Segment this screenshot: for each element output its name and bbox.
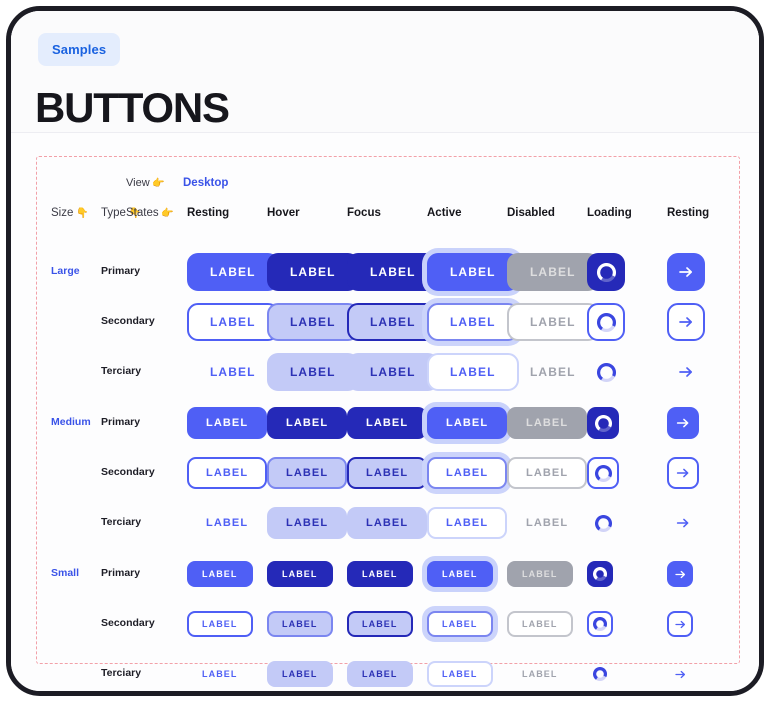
button-label: LABEL xyxy=(210,265,256,279)
cell-secondary-loading-5 xyxy=(587,601,613,647)
button-medium-primary-resting[interactable]: LABEL xyxy=(187,407,267,439)
spinner-icon xyxy=(593,567,607,581)
specimen-frame: View 👉 Desktop Size 👇Type 👇States 👉Resti… xyxy=(36,156,740,664)
button-small-primary-disabled: LABEL xyxy=(507,561,573,587)
specimen-row-large-secondary: SecondaryLABELLABELLABELLABELLABEL xyxy=(37,299,739,345)
app-window: Samples BUTTONS View 👉 Desktop Size 👇Typ… xyxy=(6,6,764,696)
button-large-secondary-disabled: LABEL xyxy=(507,303,599,341)
cell-secondary-focus-2: LABEL xyxy=(347,450,427,496)
button-medium-primary-hover[interactable]: LABEL xyxy=(267,407,347,439)
button-medium-secondary-resting[interactable]: LABEL xyxy=(187,457,267,489)
cell-secondary-resting-6 xyxy=(667,601,693,647)
button-small-terciary-disabled: LABEL xyxy=(507,661,573,687)
cell-terciary-resting-6 xyxy=(667,651,693,696)
arrow-right-icon xyxy=(673,567,688,582)
button-label: LABEL xyxy=(210,365,256,379)
window-inner: Samples BUTTONS View 👉 Desktop Size 👇Typ… xyxy=(11,11,759,691)
specimen-row-small-secondary: SecondaryLABELLABELLABELLABELLABEL xyxy=(37,601,739,647)
cell-secondary-active-3: LABEL xyxy=(427,299,519,345)
button-label: LABEL xyxy=(530,365,576,379)
spinner-icon xyxy=(597,363,616,382)
cell-terciary-loading-5 xyxy=(587,349,625,395)
button-label: LABEL xyxy=(530,265,576,279)
button-label: LABEL xyxy=(446,467,488,479)
row-type-label-secondary: Secondary xyxy=(101,617,155,629)
button-large-secondary-hover[interactable]: LABEL xyxy=(267,303,359,341)
cell-secondary-resting-6 xyxy=(667,299,705,345)
button-label: LABEL xyxy=(282,669,318,679)
view-value[interactable]: Desktop xyxy=(183,177,228,189)
arrow-right-icon xyxy=(674,514,692,532)
page-title: BUTTONS xyxy=(35,84,229,132)
button-small-terciary-focus[interactable]: LABEL xyxy=(347,661,413,687)
cell-terciary-loading-5 xyxy=(587,500,619,546)
cell-secondary-hover-1: LABEL xyxy=(267,601,333,647)
cell-primary-resting-0: LABEL xyxy=(187,551,253,597)
specimen-row-medium-primary: MediumPrimaryLABELLABELLABELLABELLABEL xyxy=(37,400,739,446)
button-label: LABEL xyxy=(206,467,248,479)
cell-terciary-hover-1: LABEL xyxy=(267,651,333,696)
cell-terciary-focus-2: LABEL xyxy=(347,500,427,546)
arrow-right-icon xyxy=(676,262,696,282)
button-large-terciary-loading[interactable] xyxy=(587,353,625,391)
column-header-disabled-4: Disabled xyxy=(507,207,555,219)
button-small-secondary-resting[interactable]: LABEL xyxy=(187,611,253,637)
cell-secondary-resting-0: LABEL xyxy=(187,601,253,647)
spinner-icon xyxy=(593,667,607,681)
button-small-secondary-resting-icon[interactable] xyxy=(667,611,693,637)
button-medium-terciary-active[interactable]: LABEL xyxy=(427,507,507,539)
cell-primary-focus-2: LABEL xyxy=(347,551,413,597)
button-medium-terciary-loading[interactable] xyxy=(587,507,619,539)
arrow-right-icon xyxy=(676,312,696,332)
cell-terciary-focus-2: LABEL xyxy=(347,651,413,696)
view-label-text: View xyxy=(126,177,150,189)
samples-chip[interactable]: Samples xyxy=(38,33,120,66)
row-type-label-primary: Primary xyxy=(101,567,140,579)
cell-terciary-hover-1: LABEL xyxy=(267,349,359,395)
button-medium-secondary-loading[interactable] xyxy=(587,457,619,489)
button-label: LABEL xyxy=(210,315,256,329)
page-header: Samples BUTTONS xyxy=(11,11,759,133)
cell-terciary-resting-6 xyxy=(667,349,705,395)
cell-secondary-disabled-4: LABEL xyxy=(507,299,599,345)
cell-terciary-loading-5 xyxy=(587,651,613,696)
column-header-row: Size 👇Type 👇States 👉RestingHoverFocusAct… xyxy=(37,207,739,227)
button-label: LABEL xyxy=(202,669,238,679)
cell-secondary-focus-2: LABEL xyxy=(347,601,413,647)
cell-primary-resting-6 xyxy=(667,551,693,597)
button-label: LABEL xyxy=(450,265,496,279)
cell-primary-active-3: LABEL xyxy=(427,551,493,597)
button-label: LABEL xyxy=(450,365,496,379)
cell-primary-focus-2: LABEL xyxy=(347,400,427,446)
button-label: LABEL xyxy=(442,619,478,629)
row-type-label-secondary: Secondary xyxy=(101,466,155,478)
button-label: LABEL xyxy=(366,517,408,529)
button-label: LABEL xyxy=(290,265,336,279)
button-label: LABEL xyxy=(206,517,248,529)
cell-terciary-hover-1: LABEL xyxy=(267,500,347,546)
cell-primary-hover-1: LABEL xyxy=(267,249,359,295)
cell-secondary-disabled-4: LABEL xyxy=(507,450,587,496)
column-header-resting-6: Resting xyxy=(667,207,709,219)
cell-terciary-resting-0: LABEL xyxy=(187,500,267,546)
cell-primary-resting-0: LABEL xyxy=(187,400,267,446)
button-medium-terciary-focus[interactable]: LABEL xyxy=(347,507,427,539)
button-label: LABEL xyxy=(286,517,328,529)
button-label: LABEL xyxy=(522,669,558,679)
spinner-icon xyxy=(595,415,612,432)
button-medium-primary-disabled: LABEL xyxy=(507,407,587,439)
button-medium-secondary-active[interactable]: LABEL xyxy=(427,457,507,489)
cell-primary-resting-6 xyxy=(667,249,705,295)
cell-secondary-loading-5 xyxy=(587,450,619,496)
button-large-secondary-loading[interactable] xyxy=(587,303,625,341)
button-label: LABEL xyxy=(522,569,558,579)
button-medium-primary-active[interactable]: LABEL xyxy=(427,407,507,439)
spinner-icon xyxy=(595,465,612,482)
cell-primary-disabled-4: LABEL xyxy=(507,551,573,597)
view-row: View 👉 Desktop xyxy=(37,177,739,197)
button-label: LABEL xyxy=(526,417,568,429)
button-large-primary-active[interactable]: LABEL xyxy=(427,253,519,291)
button-small-secondary-hover[interactable]: LABEL xyxy=(267,611,333,637)
cell-terciary-resting-0: LABEL xyxy=(187,349,279,395)
button-label: LABEL xyxy=(526,467,568,479)
cell-primary-resting-0: LABEL xyxy=(187,249,279,295)
axis-states-text: States xyxy=(126,207,159,219)
button-large-secondary-resting-icon[interactable] xyxy=(667,303,705,341)
button-label: LABEL xyxy=(522,619,558,629)
button-medium-primary-resting-icon[interactable] xyxy=(667,407,699,439)
cell-terciary-resting-0: LABEL xyxy=(187,651,253,696)
arrow-right-icon xyxy=(673,667,688,682)
axis-size-text: Size xyxy=(51,207,73,219)
button-small-primary-resting[interactable]: LABEL xyxy=(187,561,253,587)
button-small-primary-resting-icon[interactable] xyxy=(667,561,693,587)
row-type-label-secondary: Secondary xyxy=(101,315,155,327)
view-label: View 👉 xyxy=(126,177,165,189)
row-size-label-large: Large xyxy=(51,265,80,277)
button-small-terciary-loading[interactable] xyxy=(587,661,613,687)
cell-primary-disabled-4: LABEL xyxy=(507,400,587,446)
button-label: LABEL xyxy=(286,467,328,479)
cell-primary-resting-6 xyxy=(667,400,699,446)
button-label: LABEL xyxy=(530,315,576,329)
button-small-terciary-hover[interactable]: LABEL xyxy=(267,661,333,687)
button-label: LABEL xyxy=(206,417,248,429)
button-label: LABEL xyxy=(290,315,336,329)
column-header-resting-0: Resting xyxy=(187,207,229,219)
cell-secondary-resting-0: LABEL xyxy=(187,299,279,345)
button-label: LABEL xyxy=(370,265,416,279)
row-type-label-terciary: Terciary xyxy=(101,365,141,377)
button-large-terciary-active[interactable]: LABEL xyxy=(427,353,519,391)
cell-secondary-active-3: LABEL xyxy=(427,601,493,647)
button-medium-secondary-resting-icon[interactable] xyxy=(667,457,699,489)
button-label: LABEL xyxy=(446,417,488,429)
button-large-secondary-active[interactable]: LABEL xyxy=(427,303,519,341)
button-label: LABEL xyxy=(362,569,398,579)
button-medium-terciary-hover[interactable]: LABEL xyxy=(267,507,347,539)
button-label: LABEL xyxy=(362,619,398,629)
button-label: LABEL xyxy=(526,517,568,529)
button-small-secondary-disabled: LABEL xyxy=(507,611,573,637)
button-large-terciary-resting-icon[interactable] xyxy=(667,353,705,391)
arrow-right-icon xyxy=(674,464,692,482)
column-header-loading-5: Loading xyxy=(587,207,632,219)
pointing-right-hand-icon: 👉 xyxy=(150,178,165,189)
axis-label-size: Size 👇 xyxy=(51,207,89,219)
cell-terciary-active-3: LABEL xyxy=(427,349,519,395)
specimen-rows: LargePrimaryLABELLABELLABELLABELLABEL Se… xyxy=(37,235,739,663)
button-label: LABEL xyxy=(366,467,408,479)
button-label: LABEL xyxy=(370,315,416,329)
button-label: LABEL xyxy=(362,669,398,679)
pointing-down-hand-icon: 👇 xyxy=(73,208,88,219)
row-type-label-terciary: Terciary xyxy=(101,516,141,528)
button-large-primary-resting-icon[interactable] xyxy=(667,253,705,291)
pointing-right-hand-icon: 👉 xyxy=(159,208,174,219)
cell-secondary-focus-2: LABEL xyxy=(347,299,439,345)
button-small-secondary-active[interactable]: LABEL xyxy=(427,611,493,637)
button-label: LABEL xyxy=(290,365,336,379)
button-large-primary-disabled: LABEL xyxy=(507,253,599,291)
button-large-secondary-focus[interactable]: LABEL xyxy=(347,303,439,341)
button-label: LABEL xyxy=(446,517,488,529)
button-label: LABEL xyxy=(282,569,318,579)
arrow-right-icon xyxy=(674,414,692,432)
column-header-focus-2: Focus xyxy=(347,207,381,219)
column-header-active-3: Active xyxy=(427,207,462,219)
row-size-label-medium: Medium xyxy=(51,416,91,428)
cell-terciary-disabled-4: LABEL xyxy=(507,349,599,395)
spinner-icon xyxy=(595,515,612,532)
row-type-label-primary: Primary xyxy=(101,416,140,428)
specimen-row-small-terciary: TerciaryLABELLABELLABELLABELLABEL xyxy=(37,651,739,696)
button-medium-secondary-disabled: LABEL xyxy=(507,457,587,489)
button-large-terciary-hover[interactable]: LABEL xyxy=(267,353,359,391)
row-size-label-small: Small xyxy=(51,567,79,579)
button-small-primary-focus[interactable]: LABEL xyxy=(347,561,413,587)
button-large-terciary-disabled: LABEL xyxy=(507,353,599,391)
button-small-terciary-resting-icon[interactable] xyxy=(667,661,693,687)
spinner-icon xyxy=(597,313,616,332)
button-medium-primary-loading[interactable] xyxy=(587,407,619,439)
button-label: LABEL xyxy=(450,315,496,329)
cell-terciary-active-3: LABEL xyxy=(427,651,493,696)
cell-secondary-loading-5 xyxy=(587,299,625,345)
button-label: LABEL xyxy=(202,569,238,579)
button-label: LABEL xyxy=(442,669,478,679)
button-small-terciary-resting[interactable]: LABEL xyxy=(187,661,253,687)
specimen-row-small-primary: SmallPrimaryLABELLABELLABELLABELLABEL xyxy=(37,551,739,597)
button-large-terciary-focus[interactable]: LABEL xyxy=(347,353,439,391)
column-header-hover-1: Hover xyxy=(267,207,300,219)
button-medium-primary-focus[interactable]: LABEL xyxy=(347,407,427,439)
cell-primary-hover-1: LABEL xyxy=(267,551,333,597)
cell-primary-active-3: LABEL xyxy=(427,249,519,295)
button-medium-terciary-resting[interactable]: LABEL xyxy=(187,507,267,539)
button-label: LABEL xyxy=(442,569,478,579)
button-label: LABEL xyxy=(286,417,328,429)
arrow-right-icon xyxy=(673,617,688,632)
button-label: LABEL xyxy=(366,417,408,429)
specimen-row-medium-secondary: SecondaryLABELLABELLABELLABELLABEL xyxy=(37,450,739,496)
cell-primary-focus-2: LABEL xyxy=(347,249,439,295)
specimen-row-large-primary: LargePrimaryLABELLABELLABELLABELLABEL xyxy=(37,249,739,295)
cell-primary-loading-5 xyxy=(587,249,625,295)
row-type-label-terciary: Terciary xyxy=(101,667,141,679)
button-large-primary-loading[interactable] xyxy=(587,253,625,291)
button-large-primary-hover[interactable]: LABEL xyxy=(267,253,359,291)
axis-type-text: Type xyxy=(101,207,126,219)
cell-secondary-resting-6 xyxy=(667,450,699,496)
cell-secondary-hover-1: LABEL xyxy=(267,299,359,345)
cell-primary-disabled-4: LABEL xyxy=(507,249,599,295)
button-small-secondary-loading[interactable] xyxy=(587,611,613,637)
arrow-right-icon xyxy=(676,362,696,382)
specimen-row-large-terciary: TerciaryLABELLABELLABELLABELLABEL xyxy=(37,349,739,395)
button-medium-secondary-hover[interactable]: LABEL xyxy=(267,457,347,489)
cell-secondary-resting-0: LABEL xyxy=(187,450,267,496)
button-small-primary-loading[interactable] xyxy=(587,561,613,587)
cell-secondary-active-3: LABEL xyxy=(427,450,507,496)
cell-secondary-disabled-4: LABEL xyxy=(507,601,573,647)
row-type-label-primary: Primary xyxy=(101,265,140,277)
cell-primary-loading-5 xyxy=(587,400,619,446)
button-medium-terciary-disabled: LABEL xyxy=(507,507,587,539)
button-small-primary-active[interactable]: LABEL xyxy=(427,561,493,587)
button-large-primary-focus[interactable]: LABEL xyxy=(347,253,439,291)
button-small-primary-hover[interactable]: LABEL xyxy=(267,561,333,587)
cell-secondary-hover-1: LABEL xyxy=(267,450,347,496)
button-label: LABEL xyxy=(370,365,416,379)
button-large-primary-resting[interactable]: LABEL xyxy=(187,253,279,291)
cell-primary-loading-5 xyxy=(587,551,613,597)
cell-terciary-disabled-4: LABEL xyxy=(507,500,587,546)
axis-label-states: States 👉 xyxy=(126,207,174,219)
button-label: LABEL xyxy=(202,619,238,629)
specimen-row-medium-terciary: TerciaryLABELLABELLABELLABELLABEL xyxy=(37,500,739,546)
button-medium-secondary-focus[interactable]: LABEL xyxy=(347,457,427,489)
button-label: LABEL xyxy=(282,619,318,629)
button-small-secondary-focus[interactable]: LABEL xyxy=(347,611,413,637)
cell-terciary-resting-6 xyxy=(667,500,699,546)
cell-primary-active-3: LABEL xyxy=(427,400,507,446)
spinner-icon xyxy=(593,617,607,631)
cell-terciary-active-3: LABEL xyxy=(427,500,507,546)
button-large-secondary-resting[interactable]: LABEL xyxy=(187,303,279,341)
button-small-terciary-active[interactable]: LABEL xyxy=(427,661,493,687)
spinner-icon xyxy=(597,263,616,282)
cell-terciary-disabled-4: LABEL xyxy=(507,651,573,696)
cell-primary-hover-1: LABEL xyxy=(267,400,347,446)
button-large-terciary-resting[interactable]: LABEL xyxy=(187,353,279,391)
cell-terciary-focus-2: LABEL xyxy=(347,349,439,395)
button-medium-terciary-resting-icon[interactable] xyxy=(667,507,699,539)
